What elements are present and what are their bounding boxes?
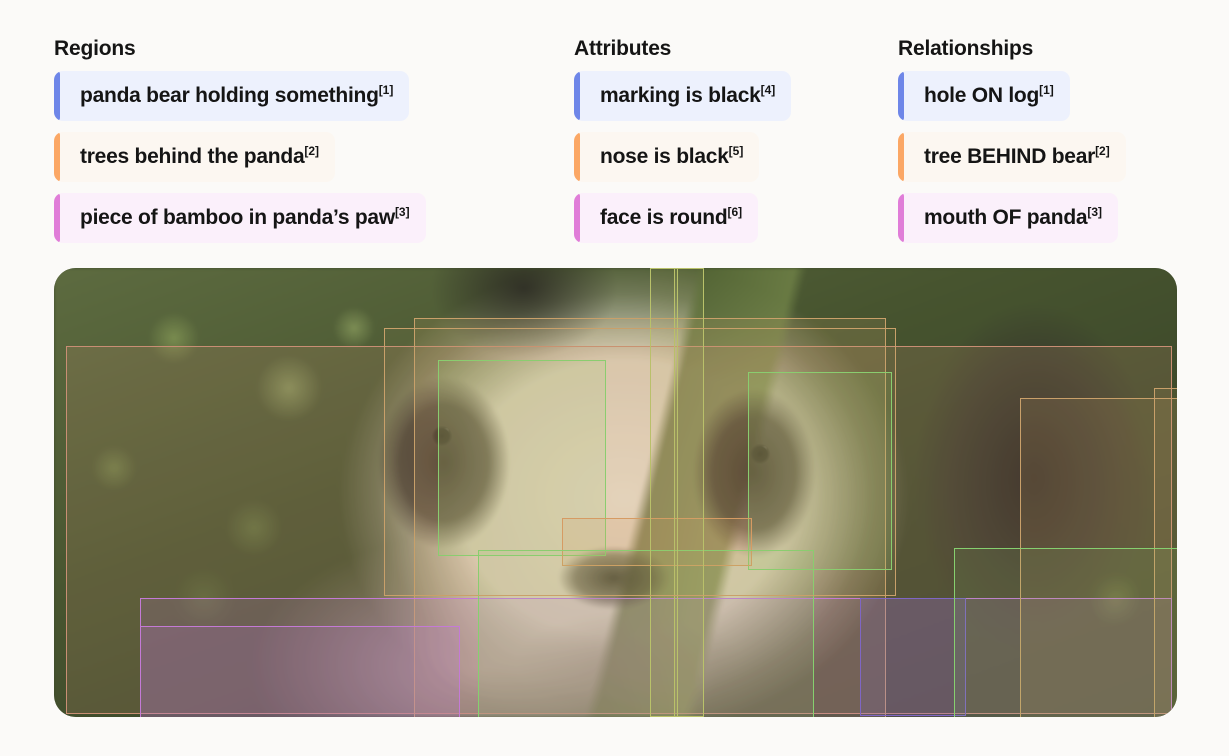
region-pill-1-label: panda bear holding something[1] xyxy=(60,71,393,121)
attribute-pill-1[interactable]: marking is black[4] xyxy=(574,71,791,121)
attribute-pill-1-label: marking is black[4] xyxy=(580,71,775,121)
region-pill-2[interactable]: trees behind the panda[2] xyxy=(54,132,335,182)
bounding-box-overlay xyxy=(54,268,1177,717)
relationship-pill-1-label: hole ON log[1] xyxy=(904,71,1054,121)
regions-pill-list: panda bear holding something[1] trees be… xyxy=(54,71,524,243)
relationship-pill-3-label: mouth OF panda[3] xyxy=(904,193,1102,243)
column-attributes: Attributes marking is black[4] nose is b… xyxy=(574,36,874,243)
relationship-pill-3[interactable]: mouth OF panda[3] xyxy=(898,193,1118,243)
attribute-pill-3[interactable]: face is round[6] xyxy=(574,193,758,243)
attribute-pill-3-label: face is round[6] xyxy=(580,193,742,243)
bbox-whole-scene[interactable] xyxy=(54,268,1177,717)
column-title-relationships: Relationships xyxy=(898,36,1198,62)
attribute-pill-2-label: nose is black[5] xyxy=(580,132,743,182)
region-pill-1[interactable]: panda bear holding something[1] xyxy=(54,71,409,121)
relationship-pill-1[interactable]: hole ON log[1] xyxy=(898,71,1070,121)
relationships-pill-list: hole ON log[1] tree BEHIND bear[2] mouth… xyxy=(898,71,1198,243)
annotation-page: Regions panda bear holding something[1] … xyxy=(0,0,1229,756)
attributes-pill-list: marking is black[4] nose is black[5] fac… xyxy=(574,71,874,243)
region-pill-3[interactable]: piece of bamboo in panda’s paw[3] xyxy=(54,193,426,243)
column-relationships: Relationships hole ON log[1] tree BEHIND… xyxy=(898,36,1198,243)
attribute-pill-2[interactable]: nose is black[5] xyxy=(574,132,759,182)
region-pill-3-label: piece of bamboo in panda’s paw[3] xyxy=(60,193,410,243)
column-regions: Regions panda bear holding something[1] … xyxy=(54,36,524,243)
column-title-regions: Regions xyxy=(54,36,524,62)
annotation-columns: Regions panda bear holding something[1] … xyxy=(54,36,1180,256)
relationship-pill-2-label: tree BEHIND bear[2] xyxy=(904,132,1110,182)
relationship-pill-2[interactable]: tree BEHIND bear[2] xyxy=(898,132,1126,182)
annotated-image-panel[interactable] xyxy=(54,268,1177,717)
region-pill-2-label: trees behind the panda[2] xyxy=(60,132,319,182)
column-title-attributes: Attributes xyxy=(574,36,874,62)
